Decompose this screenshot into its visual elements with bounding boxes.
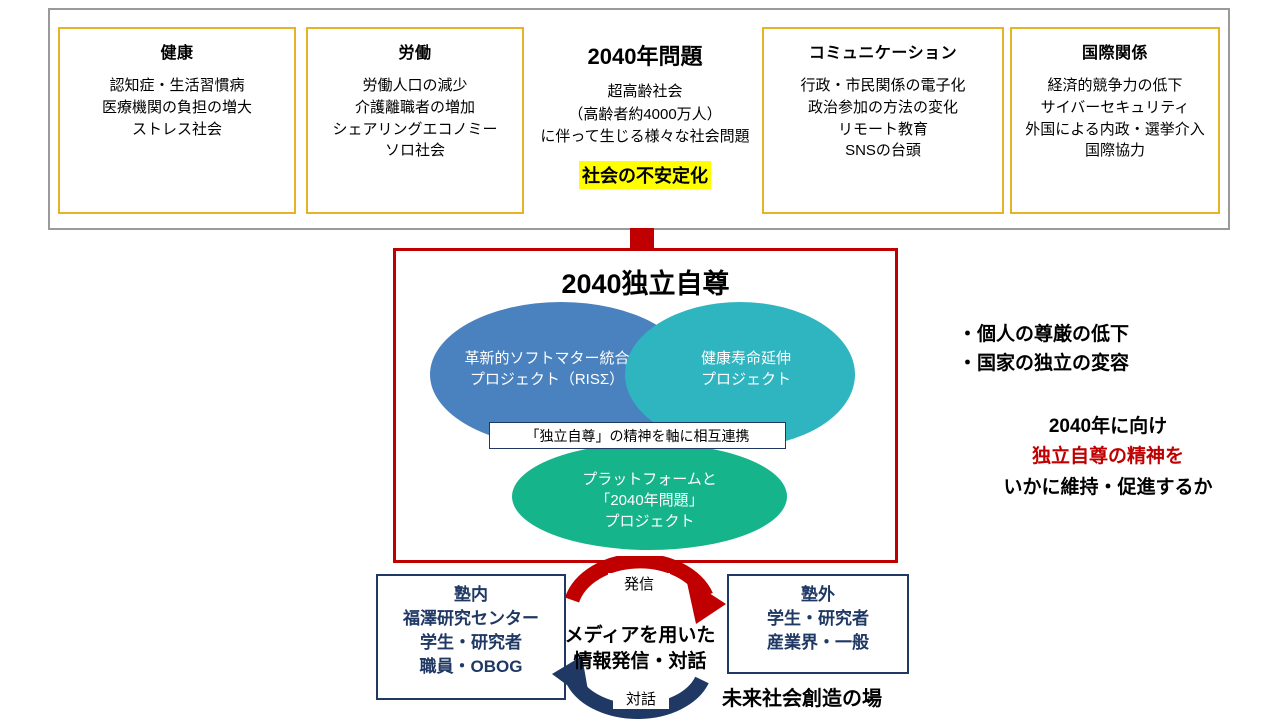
- ellipse-line: プロジェクト: [701, 369, 791, 390]
- topic-title-international: 国際関係: [1012, 39, 1218, 63]
- cycle-top-label: 発信: [608, 573, 670, 594]
- right-question-block: 2040年に向け 独立自尊の精神を いかに維持・促進するか: [948, 412, 1268, 503]
- topic-line: 介護離職者の増加: [308, 97, 522, 119]
- center-heading: 2040年問題: [530, 39, 760, 71]
- ellipse-project-platform: プラットフォームと 「2040年問題」 プロジェクト: [512, 443, 787, 550]
- ellipse-line: プラットフォームと: [582, 469, 717, 490]
- topic-line: 認知症・生活習慣病: [60, 75, 294, 97]
- ellipse-line: プロジェクト（RISΣ）: [464, 369, 629, 390]
- ellipse-line: 「2040年問題」: [582, 490, 717, 511]
- topic-line: サイバーセキュリティ: [1012, 97, 1218, 119]
- question-line-1: 2040年に向け: [948, 412, 1268, 442]
- outside-line: 学生・研究者: [729, 607, 907, 631]
- center-line: （高齢者約4000万人）: [530, 104, 760, 127]
- topic-title-labor: 労働: [308, 39, 522, 63]
- center-line: に伴って生じる様々な社会問題: [530, 126, 760, 149]
- center-highlight-label: 社会の不安定化: [579, 161, 711, 189]
- topic-box-health: 健康 認知症・生活習慣病 医療機関の負担の増大 ストレス社会: [58, 27, 296, 214]
- outside-line: 塾外: [729, 583, 907, 607]
- topic-line: 経済的競争力の低下: [1012, 75, 1218, 97]
- topic-box-international: 国際関係 経済的競争力の低下 サイバーセキュリティ 外国による内政・選挙介入 国…: [1010, 27, 1220, 214]
- topic-line: 政治参加の方法の変化: [764, 97, 1002, 119]
- topic-line: SNSの台頭: [764, 140, 1002, 162]
- topic-line: ソロ社会: [308, 140, 522, 162]
- topic-box-communication: コミュニケーション 行政・市民関係の電子化 政治参加の方法の変化 リモート教育 …: [762, 27, 1004, 214]
- center-line: 超高齢社会: [530, 81, 760, 104]
- ellipse-line: 革新的ソフトマター統合: [464, 348, 629, 369]
- topic-title-health: 健康: [60, 39, 294, 63]
- right-bullet-list: ・個人の尊厳の低下 ・国家の独立の変容: [958, 320, 1258, 379]
- center-2040-problem: 2040年問題 超高齢社会 （高齢者約4000万人） に伴って生じる様々な社会問…: [530, 32, 760, 222]
- cycle-center-label: メディアを用いた 情報発信・対話: [545, 623, 735, 674]
- ellipse-line: プロジェクト: [582, 511, 717, 532]
- cycle-center-line: 情報発信・対話: [545, 649, 735, 675]
- bullet-item: ・個人の尊厳の低下: [958, 320, 1258, 349]
- topic-line: ストレス社会: [60, 119, 294, 141]
- future-society-label: 未来社会創造の場: [722, 682, 972, 711]
- topic-line: リモート教育: [764, 119, 1002, 141]
- cycle-bottom-label: 対話: [613, 688, 669, 709]
- topic-line: 行政・市民関係の電子化: [764, 75, 1002, 97]
- outside-line: 産業界・一般: [729, 631, 907, 655]
- topic-title-communication: コミュニケーション: [764, 39, 1002, 63]
- ellipse-line: 健康寿命延伸: [701, 348, 791, 369]
- question-line-2-accent: 独立自尊の精神を: [948, 442, 1268, 472]
- topic-line: シェアリングエコノミー: [308, 119, 522, 141]
- topic-line: 医療機関の負担の増大: [60, 97, 294, 119]
- topic-box-labor: 労働 労働人口の減少 介護離職者の増加 シェアリングエコノミー ソロ社会: [306, 27, 524, 214]
- bullet-item: ・国家の独立の変容: [958, 349, 1258, 378]
- topic-line: 外国による内政・選挙介入: [1012, 119, 1218, 141]
- collaboration-caption: 「独立自尊」の精神を軸に相互連携: [489, 422, 786, 449]
- box-outside-university: 塾外 学生・研究者 産業界・一般: [727, 574, 909, 674]
- cycle-center-line: メディアを用いた: [545, 623, 735, 649]
- topic-line: 国際協力: [1012, 140, 1218, 162]
- main-title: 2040独立自尊: [393, 262, 898, 301]
- topic-line: 労働人口の減少: [308, 75, 522, 97]
- question-line-3: いかに維持・促進するか: [948, 473, 1268, 503]
